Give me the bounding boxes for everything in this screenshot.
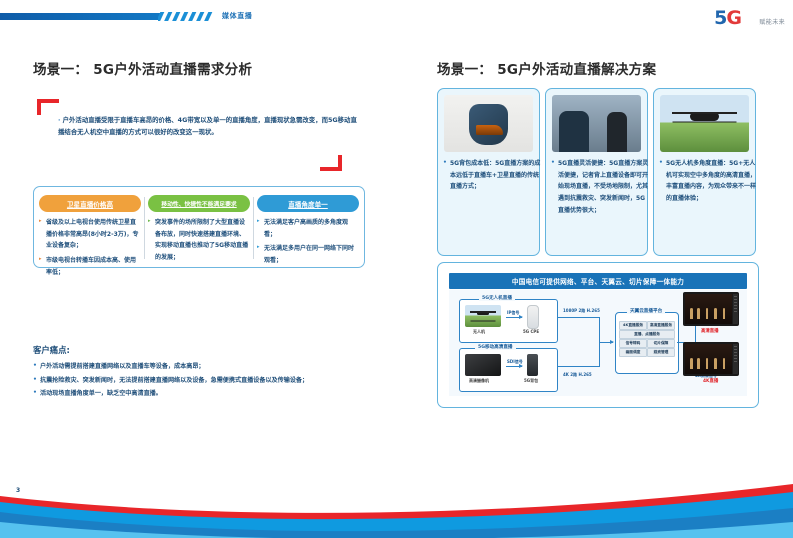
card-divider-1	[144, 197, 145, 259]
source-box-camera-label: 5G移动高清直播	[475, 344, 516, 350]
need-card-body: 省级及以上电视台使用传统卫星直播价格非常高昂(8小时2-3万)，专业设备复杂； …	[39, 217, 141, 278]
platform-chip: 信号转码	[619, 339, 647, 348]
screen-4k-label: 4K直播	[703, 378, 718, 384]
red-corner-top-left	[37, 99, 59, 115]
right-page-title: 场景一： 5G户外活动直播解决方案	[437, 58, 656, 78]
arrow-camera-to-backpack	[506, 366, 522, 367]
screen-hd-label: 高清直播	[701, 328, 719, 334]
camera-caption: 高清摄像机	[469, 378, 489, 384]
diagram-canvas: 5G无人机直播 无人机 IP信号 5G CPE 1080P 2路 H.265 5…	[449, 290, 747, 396]
solution-card-flexible: 5G直播灵活便捷：5G直播方案灵活便捷，记者背上直播设备即可开始现场直播，不受场…	[545, 88, 648, 256]
screen-hd-bezel	[733, 294, 738, 324]
need-card-satellite-cost: 卫星直播价格高 省级及以上电视台使用传统卫星直播价格非常高昂(8小时2-3万)，…	[39, 195, 141, 281]
cpe-caption: 5G CPE	[523, 329, 539, 334]
screen-hd-content	[685, 294, 732, 324]
pain-points-title: 客户痛点:	[33, 344, 70, 356]
solution-card-text: 5G无人机多角度直播：5G+无人机可实现空中多角度的高清直播，丰富直播内容，为观…	[659, 158, 758, 205]
platform-chip: 4K直播服务	[619, 321, 647, 330]
screen-4k	[683, 342, 739, 376]
needs-card-panel: 卫星直播价格高 省级及以上电视台使用传统卫星直播价格非常高昂(8小时2-3万)，…	[33, 186, 365, 268]
architecture-diagram: 中国电信可提供网络、平台、天翼云、切片保障一体能力 5G无人机直播 无人机 IP…	[437, 262, 759, 408]
platform-chip: 切片保障	[647, 339, 675, 348]
camera-stream-label: 4K 2路 H.265	[563, 372, 592, 378]
need-card-mobility: 移动性、快捷性不能满足要求 突发事件的场所限制了大型直播设备布放，同时快速搭建直…	[148, 195, 250, 267]
footer-wave-svg	[0, 478, 793, 538]
platform-chip: 媒资管理	[647, 348, 675, 357]
screen-4k-content	[685, 344, 732, 374]
solution-card-label: 5G无人机多角度直播：	[666, 160, 729, 167]
card-divider-2	[253, 197, 254, 259]
camera-thumbnail	[465, 354, 501, 376]
need-card-body: 突发事件的场所限制了大型直播设备布放，同时快速搭建直播环境、实现移动直播也推动了…	[148, 217, 250, 264]
drone-caption: 无人机	[473, 329, 485, 335]
solution-card-text: 5G背包成本低：5G直播方案的成本远低于直播车+卫星直播的传统直播方式；	[443, 158, 542, 193]
left-intro-text: · 户外活动直播受限于直播车高昂的价格、4G带宽以及单一的直播角度，直播现状急需…	[58, 115, 358, 139]
solution-card-body: 5G直播方案灵活便捷，记者背上直播设备即可开始现场直播，不受场地限制，尤其遇到抗…	[558, 160, 648, 214]
platform-chip: 高清直播服务	[647, 321, 675, 330]
left-slide: 场景一： 5G户外活动直播需求分析 · 户外活动直播受限于直播车高昂的价格、4G…	[0, 0, 396, 538]
need-card-body: 无法满足客户高画质的多角度观看； 无法满足多用户在同一网络下同时观看；	[257, 217, 359, 267]
merge-line-bottom	[557, 366, 599, 367]
footer-wave-decoration	[0, 478, 793, 538]
drone-link-caption: IP信号	[507, 310, 519, 316]
solution-card-label: 5G背包成本低：	[450, 160, 495, 167]
pain-point: 户外活动需提前搭建直播网络以及直播车等设备，成本高昂；	[33, 360, 368, 374]
need-card-heading: 移动性、快捷性不能满足要求	[148, 195, 250, 212]
backpack-device-icon	[527, 354, 538, 376]
drone-photo	[660, 95, 749, 152]
need-point: 省级及以上电视台使用传统卫星直播价格非常高昂(8小时2-3万)，专业设备复杂；	[39, 217, 141, 252]
pain-point: 抗震抢险救灾、突发新闻时，无法提前搭建直播网络以及设备，急需便携式直播设备以及传…	[33, 374, 368, 388]
need-point: 无法满足客户高画质的多角度观看；	[257, 217, 359, 240]
need-card-heading: 卫星直播价格高	[39, 195, 141, 212]
drone-thumbnail	[465, 305, 501, 327]
cpe-device-icon	[527, 305, 539, 329]
source-box-drone-label: 5G无人机直播	[479, 295, 515, 301]
diagram-banner: 中国电信可提供网络、平台、天翼云、切片保障一体能力	[449, 273, 747, 289]
need-card-heading: 直播角度单一	[257, 195, 359, 212]
need-point: 市级电视台转播车因成本高、使用率低；	[39, 255, 141, 278]
merge-line-top	[557, 317, 599, 318]
backpack-caption: 5G背包	[524, 378, 538, 384]
left-page-title: 场景一： 5G户外活动直播需求分析	[33, 58, 252, 78]
crew-photo	[552, 95, 641, 152]
screen-hd	[683, 292, 739, 326]
pain-points-list: 户外活动需提前搭建直播网络以及直播车等设备，成本高昂； 抗震抢险救灾、突发新闻时…	[33, 360, 368, 401]
red-corner-bottom-right	[320, 155, 342, 171]
left-intro-body: 户外活动直播受限于直播车高昂的价格、4G带宽以及单一的直播角度，直播现状急需改变…	[58, 116, 357, 136]
arrow-into-platform	[599, 342, 613, 343]
need-card-single-angle: 直播角度单一 无法满足客户高画质的多角度观看； 无法满足多用户在同一网络下同时观…	[257, 195, 359, 270]
solution-card-label: 5G直播灵活便捷：	[558, 160, 609, 167]
platform-chip: 直播、点播服务	[619, 330, 675, 339]
need-point: 突发事件的场所限制了大型直播设备布放，同时快速搭建直播环境、实现移动直播也推动了…	[148, 217, 250, 264]
solution-card-text: 5G直播灵活便捷：5G直播方案灵活便捷，记者背上直播设备即可开始现场直播，不受场…	[551, 158, 650, 216]
screen-4k-bezel	[733, 344, 738, 374]
solution-card-backpack: 5G背包成本低：5G直播方案的成本远低于直播车+卫星直播的传统直播方式；	[437, 88, 540, 256]
need-point: 无法满足多用户在同一网络下同时观看；	[257, 243, 359, 266]
solution-card-drone: 5G无人机多角度直播：5G+无人机可实现空中多角度的高清直播，丰富直播内容，为观…	[653, 88, 756, 256]
pain-point: 活动现场直播角度单一，缺乏空中高清直播。	[33, 387, 368, 401]
arrow-drone-to-cpe	[506, 317, 522, 318]
platform-chip: 画面调度	[619, 348, 647, 357]
backpack-photo	[444, 95, 533, 152]
cloud-platform-title: 天翼云直播平台	[627, 308, 665, 314]
drone-stream-label: 1080P 2路 H.265	[563, 308, 600, 314]
